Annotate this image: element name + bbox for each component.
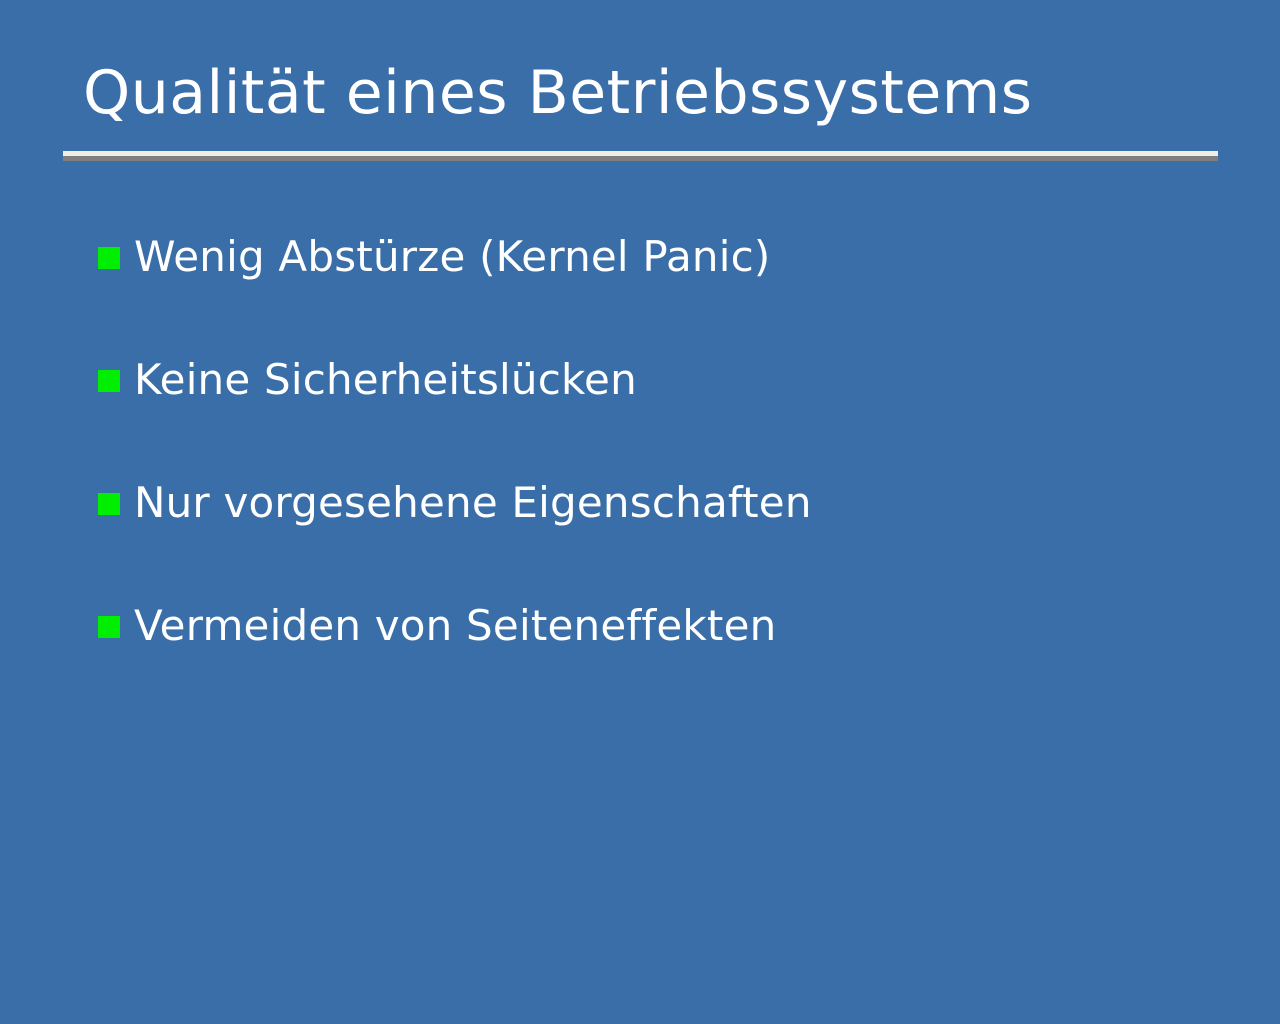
green-square-bullet-icon <box>98 616 120 638</box>
green-square-bullet-icon <box>98 247 120 269</box>
list-item: Vermeiden von Seiteneffekten <box>98 597 1218 720</box>
green-square-bullet-icon <box>98 370 120 392</box>
green-square-bullet-icon <box>98 493 120 515</box>
page-title: Qualität eines Betriebssystems <box>63 62 1218 125</box>
title-block: Qualität eines Betriebssystems <box>63 62 1218 125</box>
divider-shadow-rule <box>63 156 1218 161</box>
list-item: Keine Sicherheitslücken <box>98 351 1218 474</box>
list-item-label: Wenig Abstürze (Kernel Panic) <box>134 228 1218 286</box>
bullet-list: Wenig Abstürze (Kernel Panic) Keine Sich… <box>98 228 1218 720</box>
title-divider <box>63 151 1218 162</box>
presentation-slide: Qualität eines Betriebssystems Wenig Abs… <box>0 0 1280 1024</box>
list-item-label: Vermeiden von Seiteneffekten <box>134 597 1218 655</box>
list-item-label: Keine Sicherheitslücken <box>134 351 1218 409</box>
list-item-label: Nur vorgesehene Eigenschaften <box>134 474 1218 532</box>
list-item: Wenig Abstürze (Kernel Panic) <box>98 228 1218 351</box>
list-item: Nur vorgesehene Eigenschaften <box>98 474 1218 597</box>
